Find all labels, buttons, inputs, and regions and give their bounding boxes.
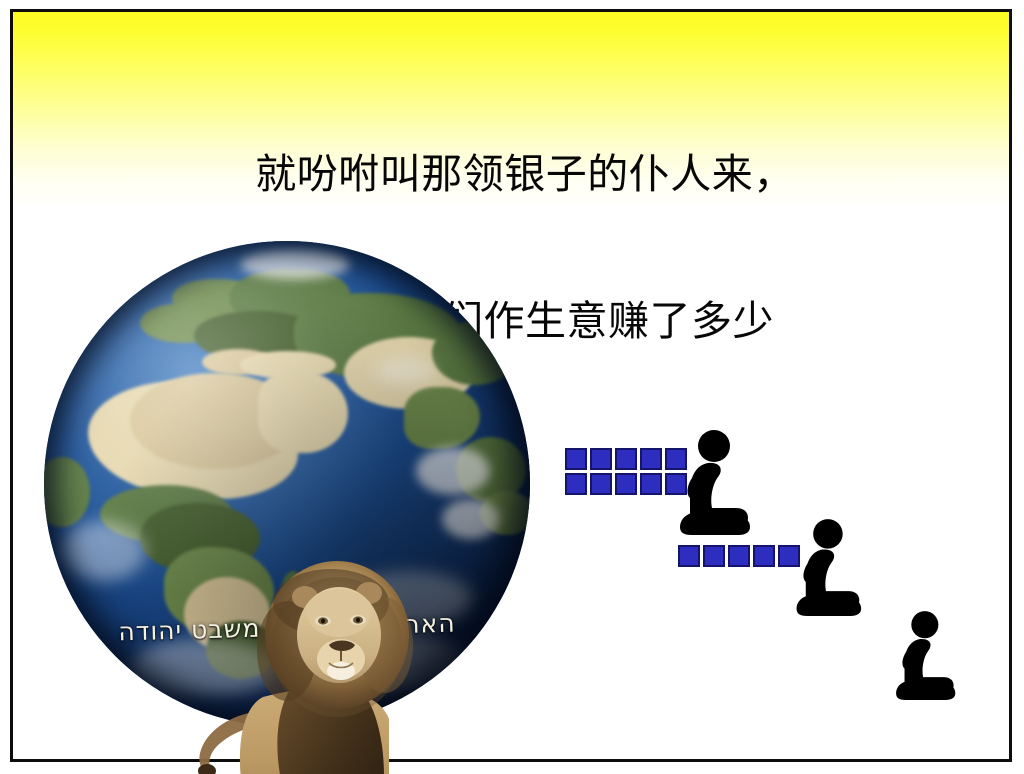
coin (615, 448, 637, 470)
servant-figure-1 (674, 429, 752, 537)
coin (590, 448, 612, 470)
slide-canvas: 就吩咐叫那领银子的仆人来， 要知道他们作生意赚了多少 (0, 0, 1024, 774)
coin (615, 473, 637, 495)
coin (590, 473, 612, 495)
coin (753, 545, 775, 567)
kneeling-person-icon (674, 429, 752, 537)
lion-figure (179, 559, 439, 774)
lion-pupil-right (356, 618, 360, 623)
lion-forehead (307, 589, 371, 637)
coin-group-five (678, 545, 806, 570)
coin-row (565, 448, 690, 473)
slide-frame: 就吩咐叫那领银子的仆人来， 要知道他们作生意赚了多少 (10, 9, 1012, 762)
coin-row (678, 545, 803, 570)
coin (703, 545, 725, 567)
earth-globe-image: האריה אשר הוא משבט יהודה (44, 241, 530, 727)
coin (678, 545, 700, 567)
coin (728, 545, 750, 567)
lion-illustration (179, 559, 439, 774)
title-line-1: 就吩咐叫那领银子的仆人来， (13, 150, 1024, 199)
lion-pupil-left (321, 619, 325, 624)
coin-group-ten (565, 448, 673, 498)
coin (565, 448, 587, 470)
coin (565, 473, 587, 495)
coin (640, 473, 662, 495)
servant-figure-2 (791, 518, 863, 618)
coin (640, 448, 662, 470)
kneeling-person-icon (891, 610, 957, 702)
servant-figure-3 (891, 610, 957, 702)
kneeling-person-icon (791, 518, 863, 618)
coin-row (565, 473, 690, 498)
